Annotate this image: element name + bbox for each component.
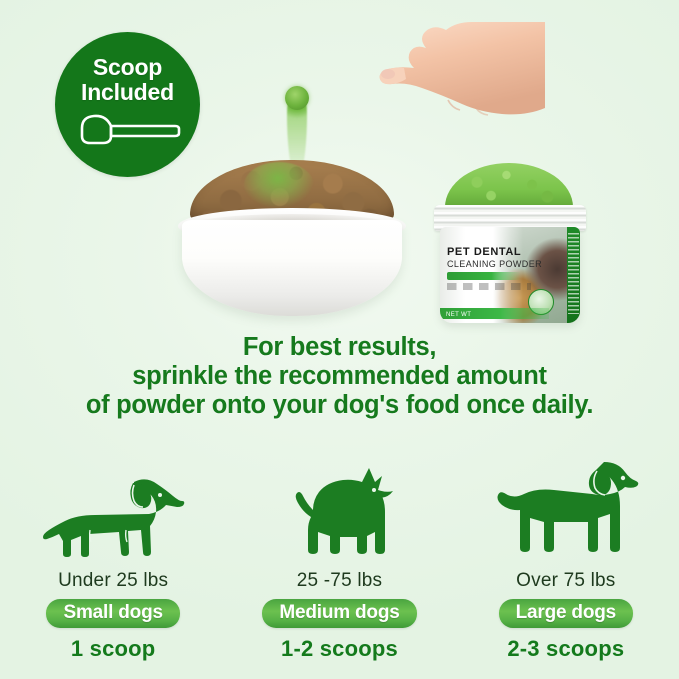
dose-weight-small: Under 25 lbs [58,570,168,592]
shiba-dog-icon [283,448,395,560]
dachshund-dog-icon [33,448,193,560]
product-subtitle: CLEANING POWDER [447,259,542,269]
infographic-page: Scoop Included [0,0,679,679]
dog-food-bowl [168,148,416,320]
dose-size-small: Small dogs [46,599,179,628]
dose-scoops-small: 1 scoop [71,636,156,662]
label-feature-bullets [447,283,531,290]
dose-scoops-medium: 1-2 scoops [281,636,398,662]
hand-sprinkling-powder [330,22,545,167]
dosage-column-medium: 25 -75 lbs Medium dogs 1-2 scoops [226,448,452,662]
dose-scoops-large: 2-3 scoops [507,636,624,662]
headline-block: For best results, sprinkle the recommend… [0,333,679,420]
dosage-chart: Under 25 lbs Small dogs 1 scoop 25 -75 l… [0,448,679,662]
headline-line-2: sprinkle the recommended amount [0,362,679,391]
dose-size-large: Large dogs [499,599,633,628]
powder-pinch-cluster [285,86,309,110]
headline-line-3: of powder onto your dog's food once dail… [0,391,679,420]
badge-line-2: Included [81,80,174,105]
headline-line-1: For best results, [0,333,679,362]
powder-on-kibble [244,162,314,208]
label-green-edge [567,227,580,323]
badge-line-1: Scoop [81,55,174,80]
product-jar: PET DENTAL CLEANING POWDER NET WT [432,163,588,325]
dosage-column-large: Over 75 lbs Large dogs 2-3 scoops [453,448,679,662]
scoop-icon [72,112,184,148]
dosage-column-small: Under 25 lbs Small dogs 1 scoop [0,448,226,662]
jar-body: PET DENTAL CLEANING POWDER NET WT [440,227,580,323]
dose-weight-medium: 25 -75 lbs [297,570,382,592]
product-title: PET DENTAL [447,246,521,258]
labrador-dog-icon [492,448,640,560]
label-ribbon [447,272,521,280]
product-net-weight: NET WT [446,312,471,318]
hand-icon [330,22,545,167]
dose-weight-large: Over 75 lbs [516,570,615,592]
dose-size-medium: Medium dogs [262,599,416,628]
green-powder-mound [445,163,573,211]
badge-text-block: Scoop Included [81,55,174,105]
bowl-body [182,220,402,316]
label-fine-print [568,233,579,314]
